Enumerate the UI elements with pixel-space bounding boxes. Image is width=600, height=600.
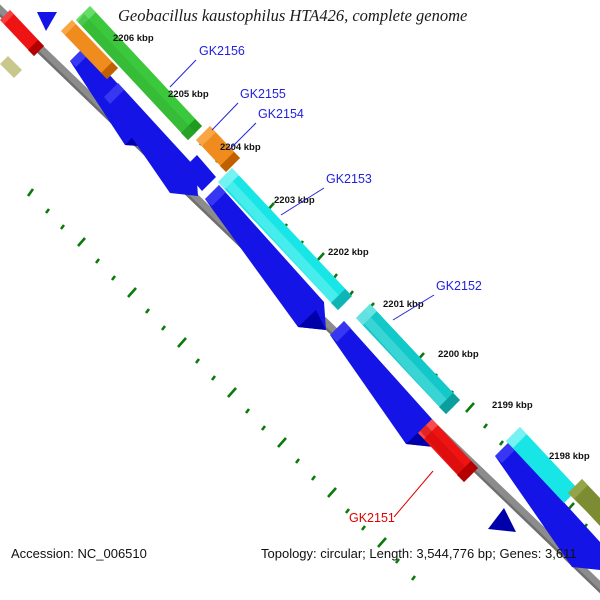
tick-label: 2203 kbp [274, 195, 315, 206]
gene-label-GK2152[interactable]: GK2152 [436, 279, 482, 293]
tick-label: 2200 kbp [438, 349, 479, 360]
tick-label: 2204 kbp [220, 142, 261, 153]
tick-label: 2198 kbp [549, 451, 590, 462]
gene-label-GK2155[interactable]: GK2155 [240, 87, 286, 101]
tick-label: 2205 kbp [168, 89, 209, 100]
gene-label-GK2156[interactable]: GK2156 [199, 44, 245, 58]
tick-label: 2202 kbp [328, 247, 369, 258]
genome-map-canvas: Geobacillus kaustophilus HTA426, complet… [0, 0, 600, 600]
page-title: Geobacillus kaustophilus HTA426, complet… [118, 6, 467, 25]
accession-text: Accession: NC_006510 [11, 546, 147, 561]
gene-label-GK2151[interactable]: GK2151 [349, 511, 395, 525]
genome-summary-text: Topology: circular; Length: 3,544,776 bp… [261, 546, 577, 561]
tick-label: 2199 kbp [492, 400, 533, 411]
footer-bar: Accession: NC_006510 Topology: circular;… [11, 546, 577, 561]
gene-label-GK2154[interactable]: GK2154 [258, 107, 304, 121]
tick-label: 2206 kbp [113, 33, 154, 44]
gene-label-GK2153[interactable]: GK2153 [326, 172, 372, 186]
